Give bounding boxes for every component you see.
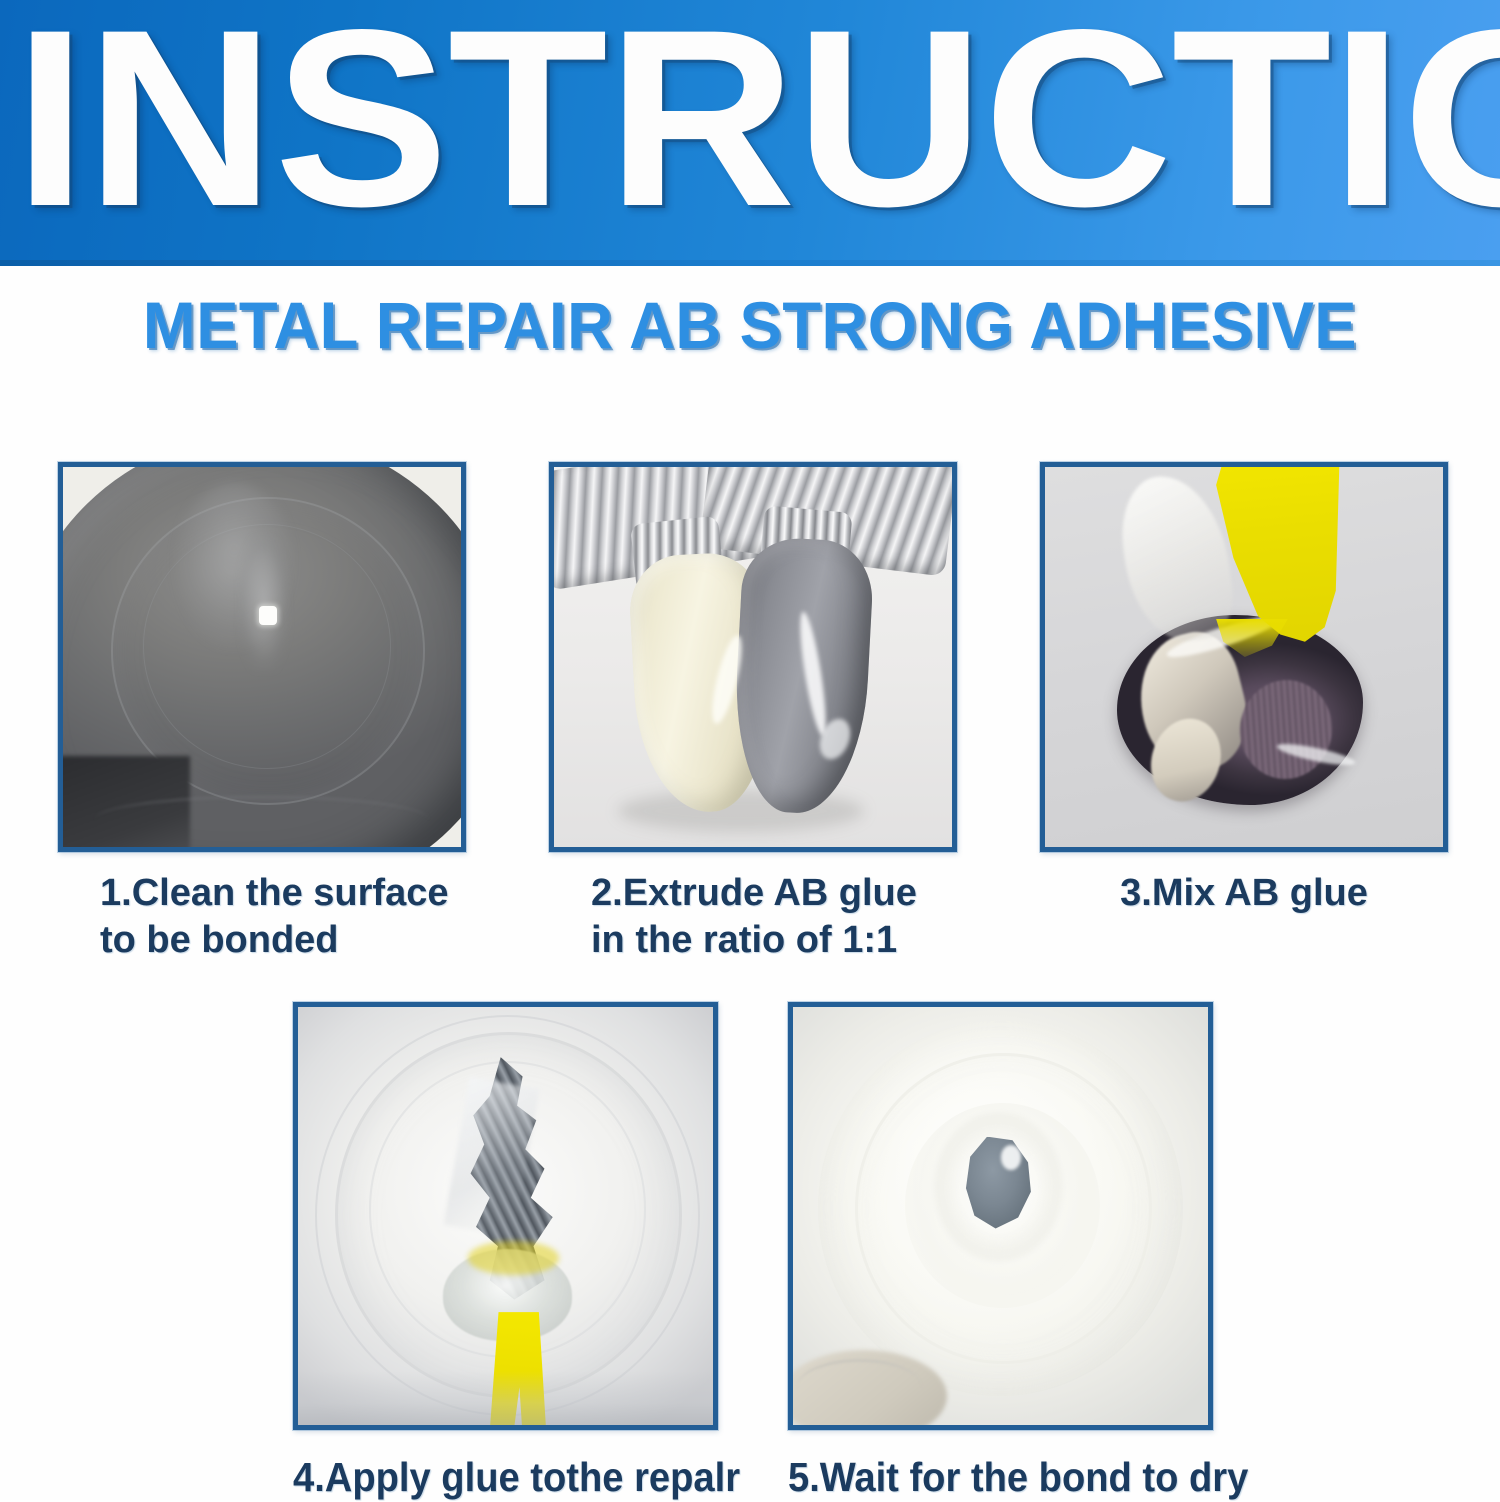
step-5-caption-line-1: 5.Wait for the bond to dry bbox=[788, 1452, 1183, 1502]
pinhole-defect bbox=[259, 606, 277, 625]
step-4: 4.Apply glue tothe repalr bbox=[293, 1002, 718, 1502]
steps-row-bottom: 4.Apply glue tothe repalr 5.Wai bbox=[293, 1002, 1213, 1502]
step-1-photo-frame bbox=[58, 462, 466, 852]
step-2: 2.Extrude AB glue in the ratio of 1:1 bbox=[549, 462, 957, 964]
bond-dry-photo bbox=[793, 1007, 1208, 1425]
step-2-photo-frame bbox=[549, 462, 957, 852]
step-2-caption: 2.Extrude AB glue in the ratio of 1:1 bbox=[549, 870, 957, 964]
step-1-caption-line-1: 1.Clean the surface bbox=[100, 870, 466, 917]
step-5-caption: 5.Wait for the bond to dry bbox=[788, 1452, 1183, 1502]
step-3-caption-line-1: 3.Mix AB glue bbox=[1040, 870, 1448, 917]
extrude-glue-photo bbox=[554, 467, 952, 847]
steps-row-top: 1.Clean the surface to be bonded bbox=[58, 462, 1448, 964]
instruction-infographic: INSTRUCTIONS METAL REPAIR AB STRONG ADHE… bbox=[0, 0, 1500, 1500]
step-5: 5.Wait for the bond to dry bbox=[788, 1002, 1213, 1502]
page-title: INSTRUCTIONS bbox=[14, 0, 1500, 252]
step-4-caption-line-1: 4.Apply glue tothe repalr bbox=[293, 1452, 688, 1502]
step-1-caption-line-2: to be bonded bbox=[100, 917, 466, 964]
step-4-caption: 4.Apply glue tothe repalr bbox=[293, 1452, 688, 1502]
step-4-photo-frame bbox=[293, 1002, 718, 1430]
step-5-photo-frame bbox=[788, 1002, 1213, 1430]
header-banner: INSTRUCTIONS bbox=[0, 0, 1500, 266]
step-2-caption-line-2: in the ratio of 1:1 bbox=[591, 917, 957, 964]
product-subtitle: METAL REPAIR AB STRONG ADHESIVE bbox=[30, 288, 1470, 362]
step-3-caption: 3.Mix AB glue bbox=[1040, 870, 1448, 917]
step-2-caption-line-1: 2.Extrude AB glue bbox=[591, 870, 957, 917]
step-1: 1.Clean the surface to be bonded bbox=[58, 462, 466, 964]
step-3: 3.Mix AB glue bbox=[1040, 462, 1448, 964]
apply-glue-photo bbox=[298, 1007, 713, 1425]
step-3-photo-frame bbox=[1040, 462, 1448, 852]
clean-surface-photo bbox=[63, 467, 461, 847]
step-1-caption: 1.Clean the surface to be bonded bbox=[58, 870, 466, 964]
mix-glue-photo bbox=[1045, 467, 1443, 847]
